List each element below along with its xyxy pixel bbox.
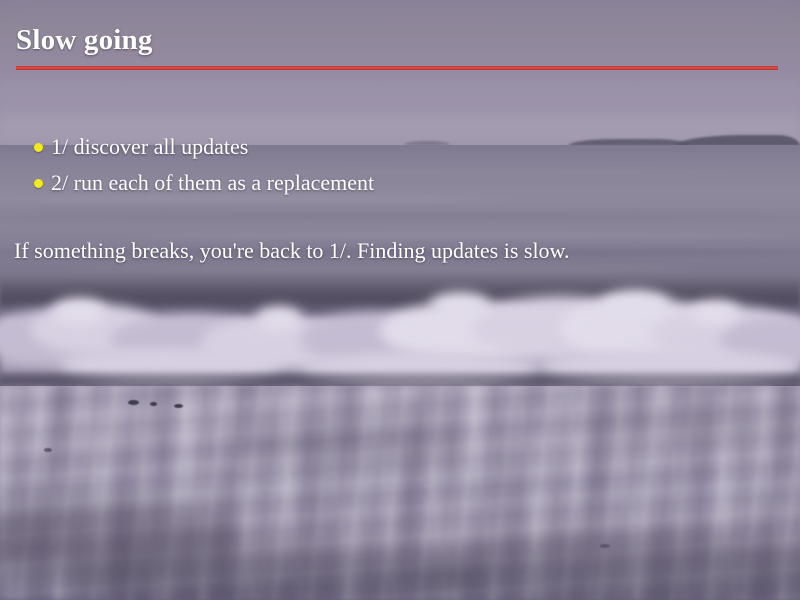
presentation-slide: Slow going 1/ discover all updates 2/ ru…: [0, 0, 800, 600]
slide-content: Slow going 1/ discover all updates 2/ ru…: [0, 0, 800, 600]
list-item: 1/ discover all updates: [34, 129, 754, 165]
bullet-dot-icon: [34, 143, 43, 152]
slide-body-text: If something breaks, you're back to 1/. …: [14, 238, 570, 264]
slide-title: Slow going: [16, 24, 153, 57]
bullet-list: 1/ discover all updates 2/ run each of t…: [34, 129, 754, 201]
bullet-dot-icon: [34, 179, 43, 188]
list-item-label: 1/ discover all updates: [51, 134, 248, 160]
title-underline-rule: [16, 66, 778, 70]
list-item: 2/ run each of them as a replacement: [34, 165, 754, 201]
list-item-label: 2/ run each of them as a replacement: [51, 170, 374, 196]
